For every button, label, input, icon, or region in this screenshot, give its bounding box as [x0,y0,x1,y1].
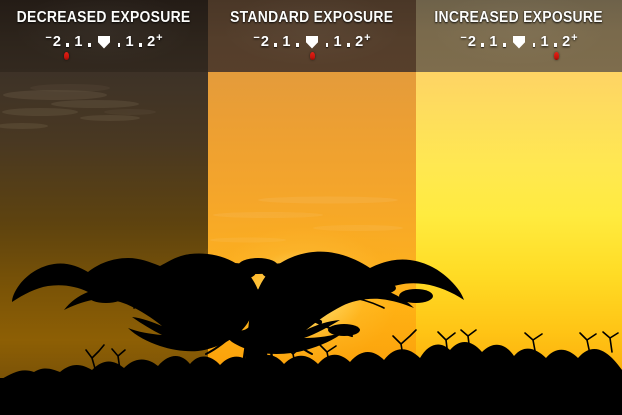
exposure-meter-decreased[interactable]: − 2 1 1 2 + [45,32,162,52]
header-cell-decreased: DECREASED EXPOSURE − 2 1 1 2 + [0,0,208,72]
minus-sign-icon: − [45,32,51,44]
meter-tick-left-outer [66,43,69,47]
meter-tick-left-outer [481,43,484,47]
meter-value-plus2: 2 [355,34,363,50]
exposure-center-marker-icon [306,36,318,49]
exposure-meter-standard[interactable]: − 2 1 1 2 + [253,32,370,52]
exposure-center-marker-icon [513,36,525,49]
plus-sign-icon: + [156,32,162,44]
meter-tick-right-inner [326,43,329,47]
minus-sign-icon: − [460,32,466,44]
exposure-center-marker-icon [98,36,110,49]
meter-tick-right-outer [139,43,142,47]
meter-value-plus1: 1 [541,34,549,50]
exposure-comparison-image: DECREASED EXPOSURE − 2 1 1 2 + STANDARD … [0,0,622,415]
meter-value-minus1: 1 [489,34,497,50]
plus-sign-icon: + [364,32,370,44]
meter-value-minus1: 1 [282,34,290,50]
meter-value-plus2: 2 [562,34,570,50]
meter-value-minus1: 1 [74,34,82,50]
meter-tick-right-outer [347,43,350,47]
exposure-meter-increased[interactable]: − 2 1 1 2 + [460,32,577,52]
meter-value-minus2: 2 [468,34,476,50]
minus-sign-icon: − [253,32,259,44]
meter-tick-left-inner [503,43,506,47]
meter-value-plus2: 2 [147,34,155,50]
meter-value-minus2: 2 [261,34,269,50]
panel-title-decreased: DECREASED EXPOSURE [17,9,191,27]
red-exposure-indicator-increased [554,52,559,60]
meter-tick-right-inner [533,43,536,47]
header-band: DECREASED EXPOSURE − 2 1 1 2 + STANDARD … [0,0,622,72]
meter-value-plus1: 1 [334,34,342,50]
meter-value-plus1: 1 [126,34,134,50]
red-exposure-indicator-standard [310,52,315,60]
header-cell-standard: STANDARD EXPOSURE − 2 1 1 2 + [208,0,416,72]
meter-tick-left-inner [88,43,91,47]
meter-tick-left-outer [274,43,277,47]
meter-tick-right-inner [118,43,121,47]
header-cell-increased: INCREASED EXPOSURE − 2 1 1 2 + [416,0,622,72]
plus-sign-icon: + [571,32,577,44]
meter-tick-left-inner [296,43,299,47]
meter-value-minus2: 2 [53,34,61,50]
meter-tick-right-outer [554,43,557,47]
red-exposure-indicator-decreased [64,52,69,60]
panel-title-increased: INCREASED EXPOSURE [435,9,603,27]
panel-title-standard: STANDARD EXPOSURE [230,9,393,27]
